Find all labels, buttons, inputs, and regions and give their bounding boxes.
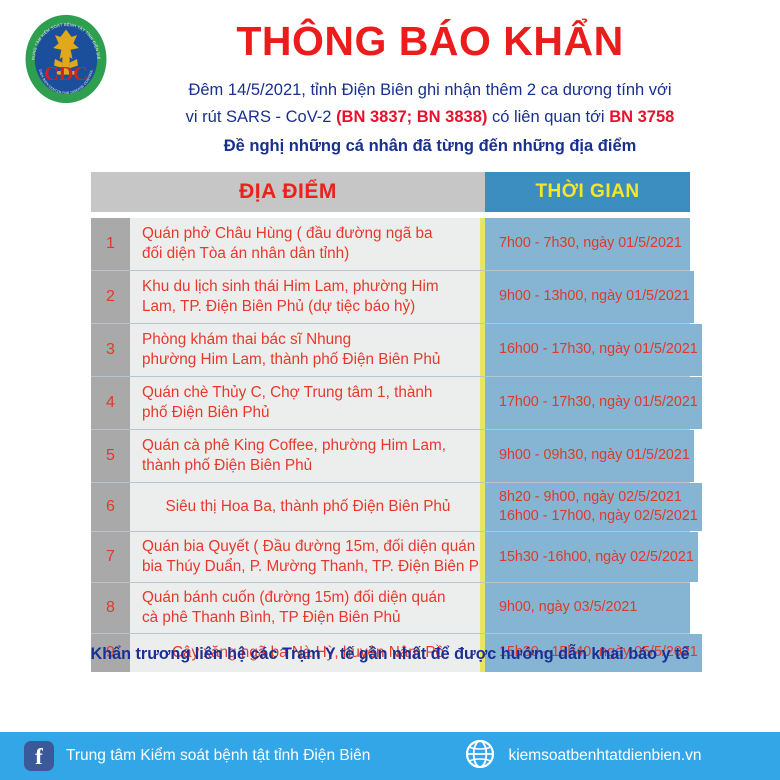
row-index-cell: 7 — [91, 532, 130, 582]
locations-table: ĐỊA ĐIỂM THỜI GIAN 1Quán phở Châu Hùng (… — [91, 172, 690, 672]
footer-bar: f Trung tâm Kiểm soát bệnh tật tỉnh Điện… — [0, 732, 780, 780]
subtitle-line-1: Đêm 14/5/2021, tỉnh Điện Biên ghi nhận t… — [120, 77, 740, 104]
place-cell: Khu du lịch sinh thái Him Lam, phường Hi… — [130, 271, 480, 323]
time-cell: 9h00 - 13h00, ngày 01/5/2021 — [485, 271, 694, 323]
place-line: Lam, TP. Điện Biên Phủ (dự tiệc báo hỷ) — [142, 297, 474, 317]
page-title: THÔNG BÁO KHẨN — [120, 18, 740, 65]
row-index-cell: 2 — [91, 271, 130, 323]
column-header-time-label: THỜI GIAN — [535, 181, 639, 203]
row-index-cell: 6 — [91, 483, 130, 531]
place-line: bia Thúy Duẩn, P. Mường Thanh, TP. Điện … — [142, 557, 474, 577]
table-row: 6Siêu thị Hoa Ba, thành phố Điện Biên Ph… — [91, 483, 690, 532]
table-row: 7Quán bia Quyết ( Đầu đường 15m, đối diệ… — [91, 532, 690, 583]
facebook-page-label: Trung tâm Kiểm soát bệnh tật tỉnh Điện B… — [66, 747, 370, 765]
place-line: Phòng khám thai bác sĩ Nhung — [142, 330, 474, 350]
table-row: 4Quán chè Thủy C, Chợ Trung tâm 1, thành… — [91, 377, 690, 430]
place-cell: Quán chè Thủy C, Chợ Trung tâm 1, thànhp… — [130, 377, 480, 429]
header-area: CDC TRUNG TÂM KIỂM SOÁT BỆNH TẬT TỈNH ĐI… — [0, 0, 780, 168]
place-line: thành phố Điện Biên Phủ — [142, 456, 474, 476]
time-line: 15h30 -16h00, ngày 02/5/2021 — [499, 548, 694, 567]
table-body: 1Quán phở Châu Hùng ( đầu đường ngã bađố… — [91, 218, 690, 672]
call-to-action-text: Khẩn trương liên hệ các Trạm Y tế gần nh… — [0, 645, 780, 664]
website-url-label: kiemsoatbenhtatdienbien.vn — [508, 747, 701, 765]
time-cell: 16h00 - 17h30, ngày 01/5/2021 — [485, 324, 702, 376]
time-cell: 15h30 -16h00, ngày 02/5/2021 — [485, 532, 698, 582]
time-cell: 9h00, ngày 03/5/2021 — [485, 583, 690, 633]
facebook-link[interactable]: f Trung tâm Kiểm soát bệnh tật tỉnh Điện… — [24, 741, 370, 771]
table-header-row: ĐỊA ĐIỂM THỜI GIAN — [91, 172, 690, 212]
subtitle-line-1-text: Đêm 14/5/2021, tỉnh Điện Biên ghi nhận t… — [188, 81, 671, 99]
time-line: 9h00, ngày 03/5/2021 — [499, 598, 686, 617]
row-index-cell: 5 — [91, 430, 130, 482]
table-row: 2Khu du lịch sinh thái Him Lam, phường H… — [91, 271, 690, 324]
subtitle-line-2-mid: có liên quan tới — [487, 108, 609, 126]
time-line: 16h00 - 17h00, ngày 02/5/2021 — [499, 507, 698, 526]
place-cell: Quán phở Châu Hùng ( đầu đường ngã bađối… — [130, 218, 480, 270]
time-cell: 7h00 - 7h30, ngày 01/5/2021 — [485, 218, 690, 270]
place-line: Siêu thị Hoa Ba, thành phố Điện Biên Phủ — [166, 497, 451, 517]
place-cell: Siêu thị Hoa Ba, thành phố Điện Biên Phủ — [130, 483, 480, 531]
time-line: 17h00 - 17h30, ngày 01/5/2021 — [499, 393, 698, 412]
cdc-dien-bien-logo: CDC TRUNG TÂM KIỂM SOÁT BỆNH TẬT TỈNH ĐI… — [20, 13, 112, 105]
subtitle-line-3: Đề nghị những cá nhân đã từng đến những … — [120, 133, 740, 160]
time-cell: 8h20 - 9h00, ngày 02/5/202116h00 - 17h00… — [485, 483, 702, 531]
column-header-place-label: ĐỊA ĐIỂM — [239, 180, 337, 204]
table-row: 3Phòng khám thai bác sĩ Nhungphường Him … — [91, 324, 690, 377]
place-line: phường Him Lam, thành phố Điện Biên Phủ — [142, 350, 474, 370]
facebook-glyph: f — [35, 745, 43, 768]
title-block: THÔNG BÁO KHẨN Đêm 14/5/2021, tỉnh Điện … — [120, 10, 740, 159]
time-line: 8h20 - 9h00, ngày 02/5/2021 — [499, 488, 698, 507]
place-line: Quán bánh cuốn (đường 15m) đối diện quán — [142, 588, 474, 608]
website-link[interactable]: kiemsoatbenhtatdienbien.vn — [464, 738, 701, 775]
time-line: 16h00 - 17h30, ngày 01/5/2021 — [499, 340, 698, 359]
table-row: 8Quán bánh cuốn (đường 15m) đối diện quá… — [91, 583, 690, 634]
subtitle-line-2-lead: vi rút SARS - CoV-2 — [186, 108, 336, 126]
column-header-place: ĐỊA ĐIỂM — [91, 172, 485, 212]
row-index-cell: 8 — [91, 583, 130, 633]
place-line: Quán chè Thủy C, Chợ Trung tâm 1, thành — [142, 383, 474, 403]
place-line: Quán phở Châu Hùng ( đầu đường ngã ba — [142, 224, 474, 244]
time-line: 7h00 - 7h30, ngày 01/5/2021 — [499, 234, 686, 253]
place-cell: Phòng khám thai bác sĩ Nhungphường Him L… — [130, 324, 480, 376]
globe-icon[interactable] — [464, 738, 496, 775]
facebook-icon[interactable]: f — [24, 741, 54, 771]
place-cell: Quán cà phê King Coffee, phường Him Lam,… — [130, 430, 480, 482]
time-cell: 9h00 - 09h30, ngày 01/5/2021 — [485, 430, 694, 482]
table-row: 5Quán cà phê King Coffee, phường Him Lam… — [91, 430, 690, 483]
row-index-cell: 1 — [91, 218, 130, 270]
time-line: 9h00 - 09h30, ngày 01/5/2021 — [499, 446, 690, 465]
subtitle-line-2: vi rút SARS - CoV-2 (BN 3837; BN 3838) c… — [120, 104, 740, 131]
place-line: Khu du lịch sinh thái Him Lam, phường Hi… — [142, 277, 474, 297]
column-header-time: THỜI GIAN — [485, 172, 690, 212]
place-line: Quán bia Quyết ( Đầu đường 15m, đối diện… — [142, 537, 474, 557]
svg-text:CDC: CDC — [44, 63, 88, 85]
row-index-cell: 3 — [91, 324, 130, 376]
place-line: đối diện Tòa án nhân dân tỉnh) — [142, 244, 474, 264]
place-line: phố Điện Biên Phủ — [142, 403, 474, 423]
place-line: cà phê Thanh Bình, TP Điện Biên Phủ — [142, 608, 474, 628]
place-cell: Quán bia Quyết ( Đầu đường 15m, đối diện… — [130, 532, 480, 582]
table-row: 1Quán phở Châu Hùng ( đầu đường ngã bađố… — [91, 218, 690, 271]
case-numbers-new: (BN 3837; BN 3838) — [336, 108, 487, 126]
case-number-source: BN 3758 — [609, 108, 674, 126]
row-index-cell: 4 — [91, 377, 130, 429]
place-line: Quán cà phê King Coffee, phường Him Lam, — [142, 436, 474, 456]
place-cell: Quán bánh cuốn (đường 15m) đối diện quán… — [130, 583, 480, 633]
time-cell: 17h00 - 17h30, ngày 01/5/2021 — [485, 377, 702, 429]
time-line: 9h00 - 13h00, ngày 01/5/2021 — [499, 287, 690, 306]
